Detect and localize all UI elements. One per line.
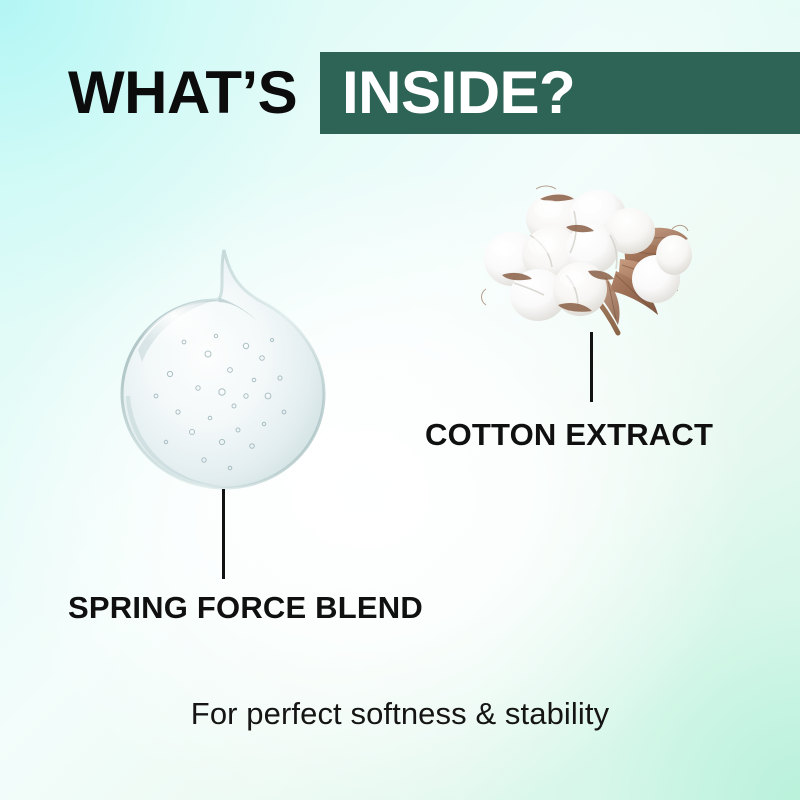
header: WHAT’S INSIDE?	[0, 52, 800, 134]
cotton-bolls-image	[478, 183, 692, 341]
leader-line-spring-force-blend	[222, 489, 225, 579]
headline-accent: INSIDE?	[342, 52, 575, 134]
gel-drop-swatch-image	[112, 246, 334, 494]
ingredient-label-cotton-extract: COTTON EXTRACT	[425, 419, 713, 450]
whats-inside-infographic: WHAT’S INSIDE?	[0, 0, 800, 800]
tagline: For perfect softness & stability	[0, 698, 800, 729]
headline-banner: INSIDE?	[320, 52, 800, 134]
ingredient-label-spring-force-blend: SPRING FORCE BLEND	[68, 592, 423, 623]
leader-line-cotton-extract	[590, 332, 593, 402]
headline-primary: WHAT’S	[68, 52, 297, 134]
